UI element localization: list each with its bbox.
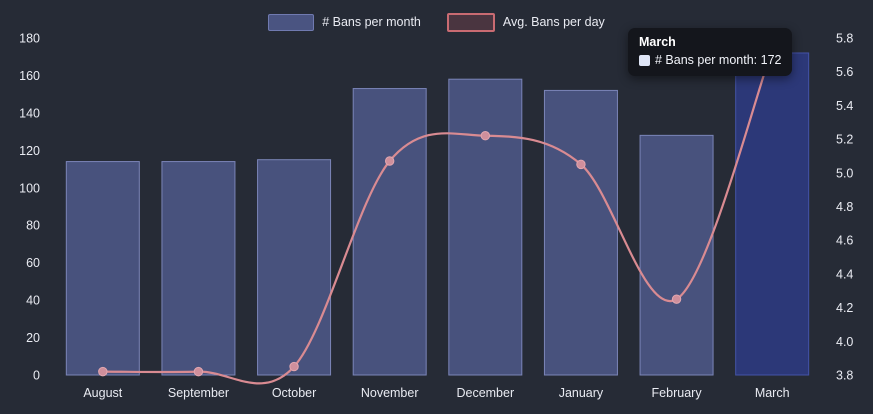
left-axis-tick: 180 [19,32,40,46]
line-point-february[interactable] [672,295,680,303]
left-axis-tick: 140 [19,106,40,120]
bar-series [66,53,808,375]
right-axis-tick: 4.4 [836,267,853,281]
x-axis-tick-december: December [456,386,514,400]
right-axis-tick: 5.6 [836,65,853,79]
left-axis-tick: 0 [33,369,40,383]
x-axis-tick-october: October [272,386,316,400]
bar-november[interactable] [353,89,426,375]
line-point-september[interactable] [194,367,202,375]
line-point-august[interactable] [99,367,107,375]
x-axis: AugustSeptemberOctoberNovemberDecemberJa… [83,386,789,400]
right-axis-tick: 4.0 [836,335,853,349]
bar-february[interactable] [640,135,713,375]
x-axis-tick-november: November [361,386,419,400]
tooltip-swatch-icon [639,55,650,66]
x-axis-tick-february: February [652,386,703,400]
tooltip-value-label: # Bans per month: 172 [655,53,781,67]
x-axis-tick-august: August [83,386,122,400]
x-axis-tick-march: March [755,386,790,400]
right-axis-tick: 3.8 [836,369,853,383]
left-axis: 020406080100120140160180 [19,32,40,383]
line-point-january[interactable] [577,160,585,168]
right-axis-tick: 4.6 [836,234,853,248]
left-axis-tick: 60 [26,256,40,270]
bar-august[interactable] [66,162,139,375]
left-axis-tick: 40 [26,294,40,308]
chart-container: # Bans per month Avg. Bans per day 02040… [0,0,873,414]
x-axis-tick-january: January [559,386,604,400]
right-axis-tick: 4.2 [836,301,853,315]
bar-october[interactable] [258,160,331,375]
line-point-october[interactable] [290,362,298,370]
chart-tooltip: March # Bans per month: 172 [628,28,792,76]
bar-march[interactable] [736,53,809,375]
tooltip-title: March [639,35,781,49]
x-axis-tick-september: September [168,386,229,400]
right-axis: 3.84.04.24.44.64.85.05.25.45.65.8 [836,32,853,383]
tooltip-row: # Bans per month: 172 [639,53,781,67]
right-axis-tick: 4.8 [836,200,853,214]
left-axis-tick: 80 [26,219,40,233]
left-axis-tick: 120 [19,144,40,158]
right-axis-tick: 5.8 [836,32,853,46]
left-axis-tick: 160 [19,69,40,83]
line-point-november[interactable] [385,157,393,165]
line-point-december[interactable] [481,132,489,140]
bar-september[interactable] [162,162,235,375]
right-axis-tick: 5.0 [836,166,853,180]
bar-december[interactable] [449,79,522,375]
left-axis-tick: 20 [26,331,40,345]
left-axis-tick: 100 [19,181,40,195]
bar-january[interactable] [544,90,617,375]
right-axis-tick: 5.2 [836,133,853,147]
right-axis-tick: 5.4 [836,99,853,113]
